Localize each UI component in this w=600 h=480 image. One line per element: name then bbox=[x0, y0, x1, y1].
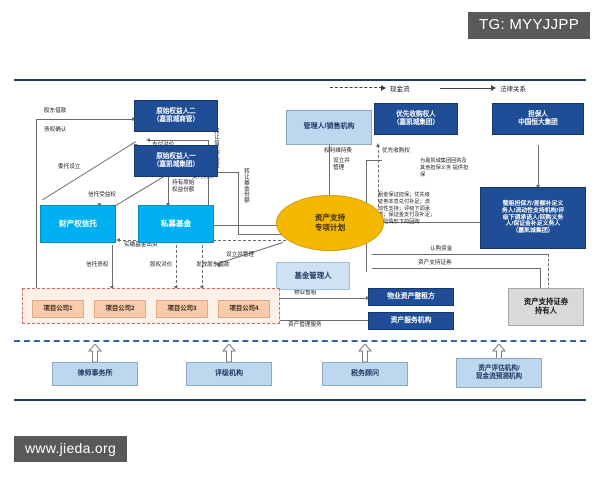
legend-item-cash-flow: 现金流 bbox=[330, 80, 410, 96]
label-issue-shareholder-loan: 发放股东借款 bbox=[196, 262, 230, 269]
node-tax-advisor[interactable]: 税务顾问 bbox=[322, 362, 408, 386]
arrow-priority-right bbox=[376, 143, 380, 147]
label-establish-manage-fund: 设立并管理 bbox=[226, 252, 254, 259]
label-establish-and-manage: 设立并 管理 bbox=[333, 158, 350, 172]
node-project-company-1[interactable]: 项目公司1 bbox=[32, 300, 84, 318]
legend-label-cash-flow: 现金流 bbox=[390, 83, 410, 93]
diagram-canvas: TG: MYYJJPP www.jieda.org 现金流 法律关系 bbox=[0, 0, 600, 480]
project-companies-ellipsis: … bbox=[256, 306, 262, 313]
node-obligor-group[interactable]: 整租担保方/差额补足义 务人/流动性支持机构/评 级下调承诺人/回购义务 人/保… bbox=[480, 187, 586, 249]
label-subscription-funds: 认购资金 bbox=[430, 246, 452, 253]
node-originator-one[interactable]: 原始权益人一 （嘉凯城集团） bbox=[134, 145, 218, 177]
arrowhead-icon bbox=[491, 85, 496, 91]
node-project-company-3[interactable]: 项目公司3 bbox=[156, 300, 208, 318]
line-trust-claim bbox=[112, 245, 113, 288]
site-watermark: www.jieda.org bbox=[14, 436, 127, 462]
label-trust-establish: 委托设立 bbox=[58, 164, 80, 171]
block-arrow-up-tax-advisor bbox=[358, 344, 372, 362]
label-asset-backed-security: 资产支持证券 bbox=[418, 260, 452, 267]
node-manager-seller[interactable]: 管理人/销售机构 bbox=[286, 110, 372, 145]
node-property-lessee[interactable]: 物业资产整租方 bbox=[368, 288, 454, 306]
arrow-pay-consideration-1 bbox=[146, 138, 150, 142]
label-property-lease: 物业整租 bbox=[294, 290, 316, 297]
label-claim-confirmation: 债权确认 bbox=[44, 127, 66, 134]
solid-line-icon bbox=[440, 88, 492, 89]
line-left-rail bbox=[36, 119, 37, 305]
node-law-firm[interactable]: 律师事务所 bbox=[52, 362, 138, 386]
node-asset-servicer[interactable]: 资产服务机构 bbox=[368, 312, 454, 330]
label-hold-original-share: 持有原始 权益份额 bbox=[172, 180, 194, 194]
line-guarantee bbox=[538, 145, 539, 187]
line-abs-security-h bbox=[372, 268, 540, 269]
node-property-trust[interactable]: 财产权信托 bbox=[40, 205, 116, 243]
node-originator-two[interactable]: 原始权益人二 （嘉凯城商管） bbox=[134, 100, 218, 132]
line-right-maintenance-top bbox=[366, 160, 382, 161]
advisors-separator bbox=[14, 340, 586, 342]
label-asset-management-service: 资产管理服务 bbox=[288, 322, 322, 329]
arrow-actual-contribution bbox=[116, 238, 120, 242]
label-equity-consideration: 股权对价 bbox=[150, 262, 172, 269]
note-credit-support: 租金保证担保；优先级 证券本息兑付补足；流 动性支持；评级下调承 诺；保证金支付… bbox=[378, 192, 470, 226]
label-right-maintenance-fee: 权利维持费 bbox=[324, 148, 352, 155]
line-subscription-funds bbox=[548, 254, 549, 290]
legend-item-legal-relation: 法律关系 bbox=[440, 80, 526, 96]
node-project-company-2[interactable]: 项目公司2 bbox=[94, 300, 146, 318]
node-priority-buyer[interactable]: 优先收购权人 （嘉凯城集团） bbox=[374, 103, 458, 135]
block-arrow-up-law-firm bbox=[88, 344, 102, 362]
node-special-plan[interactable]: 资产支持 专项计划 bbox=[276, 195, 384, 251]
legend-label-legal-relation: 法律关系 bbox=[500, 83, 526, 93]
arrowhead-icon bbox=[381, 85, 386, 91]
line-subscription-h bbox=[372, 254, 548, 255]
bottom-divider-rule bbox=[14, 399, 586, 401]
node-abs-holder[interactable]: 资产支持证券 持有人 bbox=[508, 288, 584, 326]
line-abs-security bbox=[540, 268, 541, 290]
label-actual-fund-contribution: 实缴基金出资 bbox=[124, 242, 158, 249]
node-valuation-agency[interactable]: 资产评估机构/ 现金流预测机构 bbox=[456, 358, 542, 388]
node-private-fund[interactable]: 私募基金 bbox=[138, 205, 214, 243]
label-priority-purchase-right: 优先收购权 bbox=[382, 148, 410, 155]
line-pay-consideration-1 bbox=[148, 140, 208, 141]
line-equity-consideration bbox=[176, 245, 177, 288]
node-fund-manager[interactable]: 基金管理人 bbox=[276, 262, 350, 290]
node-rating-agency[interactable]: 评级机构 bbox=[186, 362, 272, 386]
line-hold-share bbox=[168, 177, 169, 205]
legend: 现金流 法律关系 bbox=[330, 80, 540, 96]
label-trust-claim: 信托债权 bbox=[86, 262, 108, 269]
telegram-watermark: TG: MYYJJPP bbox=[468, 12, 590, 39]
label-trust-beneficiary: 信托受益权 bbox=[88, 192, 116, 199]
line-shareholder-loan-top bbox=[36, 119, 134, 120]
line-rail-fundshare bbox=[238, 172, 239, 234]
label-shareholder-loan: 股东借款 bbox=[44, 108, 66, 115]
note-guarantee-scope: 为嘉凯城集团回购及 其他担保义务 提供担 保 bbox=[420, 158, 506, 178]
dashed-line-icon bbox=[330, 87, 382, 89]
block-arrow-up-rating-agency bbox=[222, 344, 236, 362]
node-guarantor[interactable]: 担保人 中国恒大集团 bbox=[492, 103, 584, 135]
label-transfer-fund-share: 转让基金份额 bbox=[242, 168, 249, 203]
line-transfer-trustright bbox=[208, 225, 286, 226]
node-project-company-4[interactable]: 项目公司4 bbox=[218, 300, 270, 318]
